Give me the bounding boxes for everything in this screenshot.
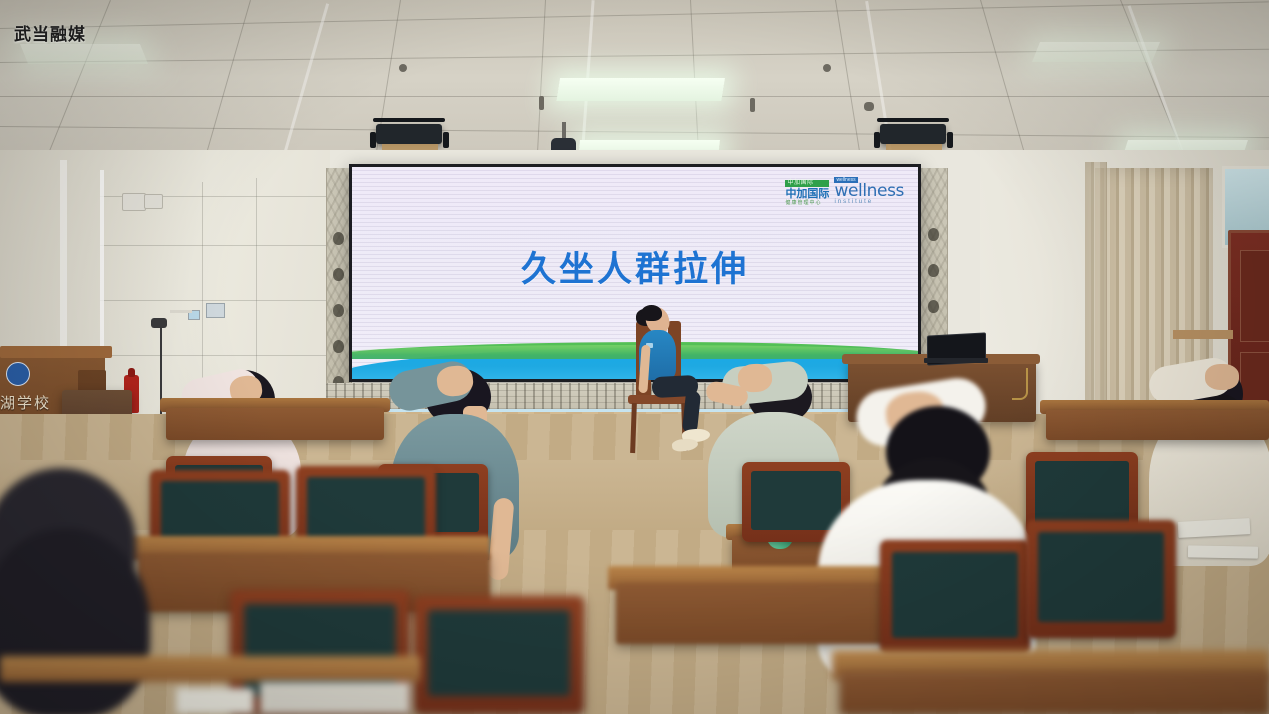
desk-row bbox=[1046, 410, 1269, 440]
ceiling-hanger bbox=[823, 64, 831, 72]
hand bbox=[1205, 364, 1239, 390]
school-crest-icon bbox=[6, 362, 30, 386]
screenshot-root: 湖学校 中加国际 中加国际 健康管理中心 bbox=[0, 0, 1269, 714]
wall-sensor bbox=[144, 194, 163, 209]
wellness-institute-logo: 中加国际 中加国际 健康管理中心 wellness wellness insti… bbox=[785, 177, 904, 206]
wall-outlet bbox=[206, 303, 225, 318]
laptop-base bbox=[924, 358, 988, 363]
chair-foreground bbox=[880, 540, 1030, 654]
presenter-leg bbox=[682, 390, 701, 433]
door-panel bbox=[1240, 250, 1269, 342]
ceiling bbox=[0, 0, 1269, 172]
logo-cn-sub: 健康管理中心 bbox=[785, 200, 829, 206]
ceiling-hanger bbox=[539, 96, 544, 110]
fire-extinguisher-neck bbox=[128, 368, 135, 377]
chair-foreground bbox=[1026, 520, 1176, 638]
podium-sign-text: 湖学校 bbox=[0, 392, 51, 413]
presenter-shoe bbox=[671, 438, 698, 453]
logo-cn-main: 中加国际 bbox=[785, 188, 829, 199]
slide-title: 久坐人群拉伸 bbox=[352, 241, 918, 292]
desk-row bbox=[166, 408, 384, 440]
logo-cn-tag: 中加国际 bbox=[785, 180, 829, 187]
presenter bbox=[608, 303, 708, 453]
chair-foreground bbox=[414, 596, 584, 714]
logo-en-main: wellness bbox=[834, 183, 904, 199]
paper-sheet bbox=[176, 688, 254, 714]
watermark-text: 武当融媒 bbox=[14, 20, 86, 45]
presenter-hair bbox=[641, 305, 662, 321]
ceiling-light-panel bbox=[556, 78, 725, 101]
ceiling-hanger bbox=[864, 102, 874, 111]
ceiling-hanger bbox=[399, 64, 407, 72]
desk-foreground bbox=[840, 672, 1269, 714]
paper-sheet bbox=[1188, 545, 1258, 558]
podium-top bbox=[0, 346, 112, 358]
ceiling-hanger bbox=[750, 98, 755, 112]
ceiling-light-panel bbox=[20, 44, 148, 64]
presenter-chair-leg bbox=[630, 403, 637, 453]
open-notebook bbox=[260, 682, 410, 714]
ceiling-light-panel bbox=[1032, 42, 1160, 62]
desk-foreground bbox=[0, 656, 420, 682]
logo-en-sub: institute bbox=[834, 199, 873, 206]
mic-arm bbox=[151, 318, 167, 328]
wall-speaker bbox=[122, 193, 146, 211]
